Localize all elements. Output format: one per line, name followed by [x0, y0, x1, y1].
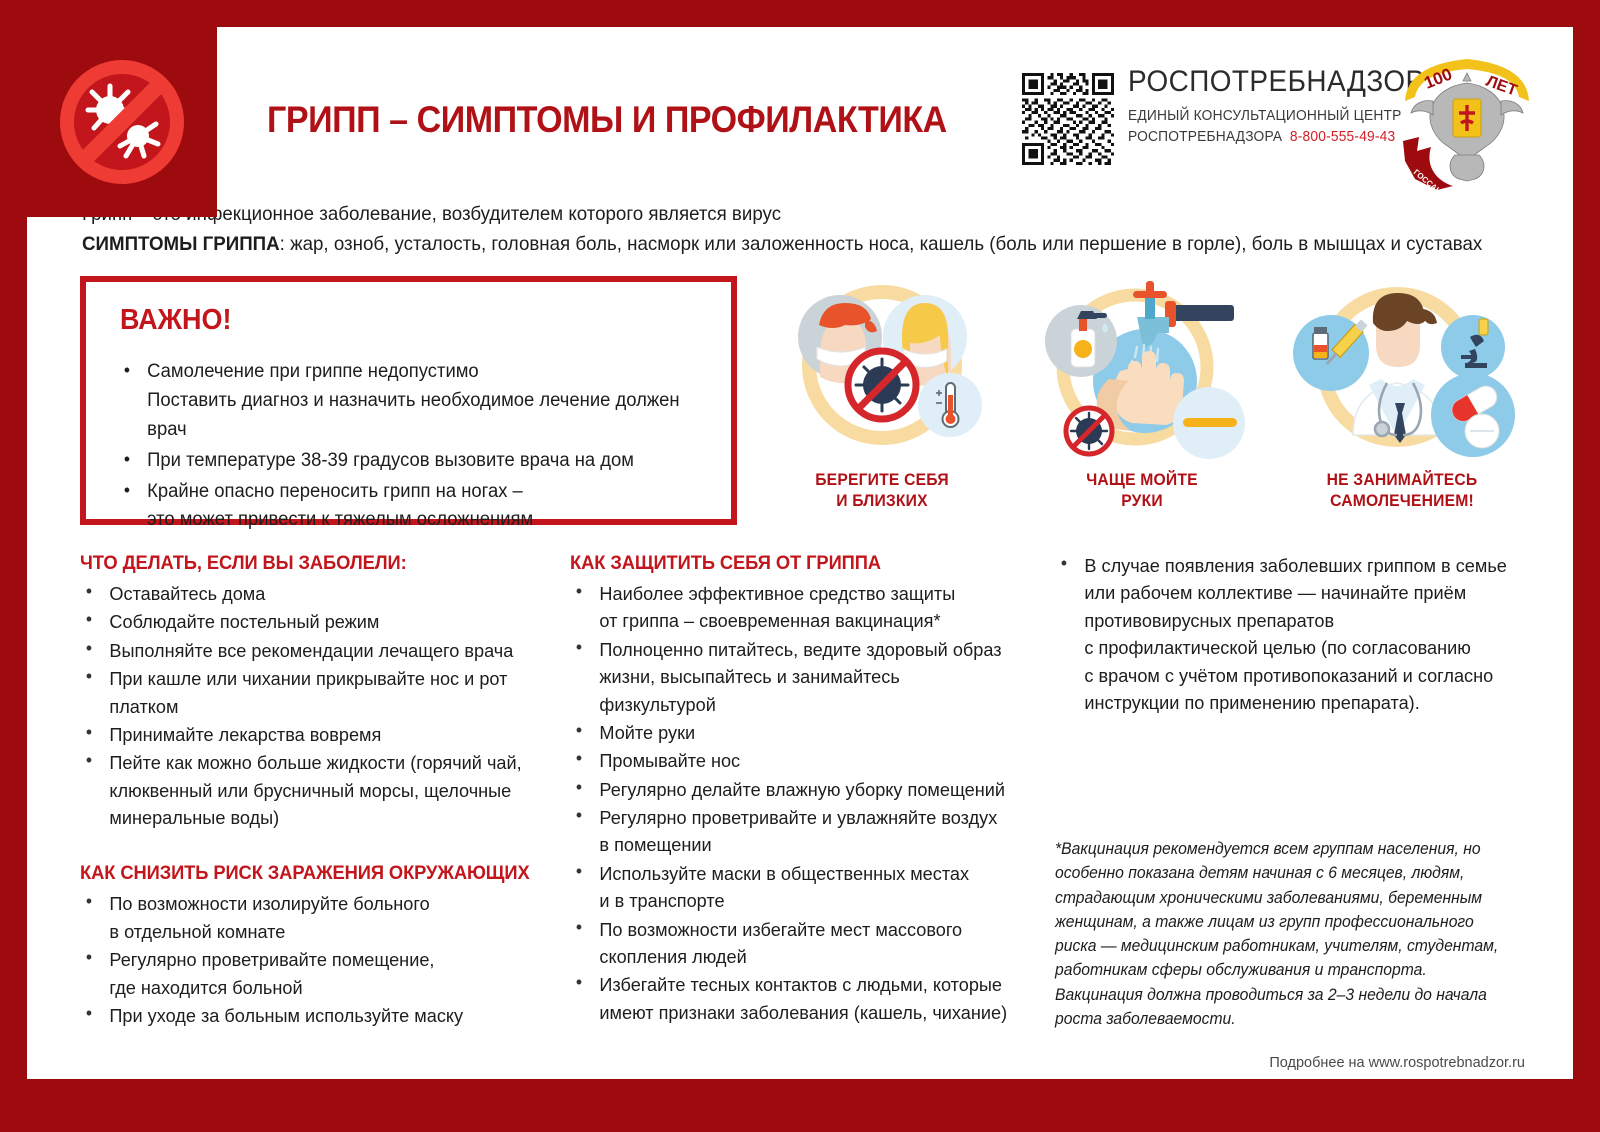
illustration-card-protect-yourself: БЕРЕГИТЕ СЕБЯ И БЛИЗКИХ: [757, 275, 1007, 513]
list-item: Оставайтесь дома: [80, 580, 541, 607]
virus-badge-block: [27, 27, 217, 217]
section-gap: [80, 832, 550, 862]
vaccination-footnote: *Вакцинация рекомендуется всем группам н…: [1055, 837, 1511, 1031]
poster-sheet: ГРИПП – СИМПТОМЫ И ПРОФИЛАКТИКА: [27, 27, 1573, 1079]
list-item: При кашле или чихании прикрывайте нос и …: [80, 665, 541, 720]
brand-subtitle-line1: ЕДИНЫЙ КОНСУЛЬТАЦИОННЫЙ ЦЕНТР: [1128, 106, 1431, 127]
art-wash-hands: [1017, 275, 1267, 470]
illustration-caption: БЕРЕГИТЕ СЕБЯ И БЛИЗКИХ: [763, 470, 1001, 513]
list-item: По возможности изолируйте больного в отд…: [80, 890, 541, 945]
qr-code-icon: [1022, 73, 1114, 165]
list-item: Регулярно проветривайте помещение, где н…: [80, 946, 541, 1001]
section-heading-what-to-do: ЧТО ДЕЛАТЬ, ЕСЛИ ВЫ ЗАБОЛЕЛИ:: [80, 552, 522, 575]
important-title: ВАЖНО!: [120, 304, 231, 337]
important-list: Самолечение при гриппе недопустимо Поста…: [120, 358, 720, 537]
list-reduce-risk: По возможности изолируйте больного в отд…: [80, 890, 550, 1029]
intro-text: Грипп – это инфекционное заболевание, во…: [82, 199, 1482, 259]
list-prophylaxis: В случае появления заболевших гриппом в …: [1055, 552, 1533, 716]
illustration-caption: ЧАЩЕ МОЙТЕ РУКИ: [1023, 470, 1261, 513]
brand-subtitle-line2: РОСПОТРЕБНАДЗОРА: [1128, 129, 1282, 145]
illustration-card-wash-hands: ЧАЩЕ МОЙТЕ РУКИ: [1017, 275, 1267, 513]
poster-root: ГРИПП – СИМПТОМЫ И ПРОФИЛАКТИКА: [0, 0, 1600, 1132]
brand-block: РОСПОТРЕБНАДЗОР ЕДИНЫЙ КОНСУЛЬТАЦИОННЫЙ …: [1022, 67, 1447, 165]
column-how-to-protect: КАК ЗАЩИТИТЬ СЕБЯ ОТ ГРИППА Наиболее эфф…: [570, 552, 1025, 1027]
brand-name: РОСПОТРЕБНАДЗОР: [1128, 67, 1425, 97]
faucet-icon: [1133, 281, 1234, 347]
content-columns: ЧТО ДЕЛАТЬ, ЕСЛИ ВЫ ЗАБОЛЕЛИ: Оставайтес…: [80, 552, 1530, 1032]
list-item: Избегайте тесных контактов с людьми, кот…: [570, 971, 1016, 1026]
list-how-to-protect: Наиболее эффективное средство защиты от …: [570, 580, 1025, 1026]
hotline-phone: 8-800-555-49-43: [1290, 129, 1395, 145]
rospotrebnadzor-emblem-icon: 100 ЛЕТ ГОССАНЭПИДСЛУЖБА: [1397, 43, 1537, 193]
list-item: Регулярно делайте влажную уборку помещен…: [570, 776, 1016, 803]
list-item: Используйте маски в общественных местах …: [570, 860, 1016, 915]
illustration-caption: НЕ ЗАНИМАЙТЕСЬ САМОЛЕЧЕНИЕМ!: [1283, 470, 1521, 513]
intro-line-2: СИМПТОМЫ ГРИППА: жар, озноб, усталость, …: [82, 229, 1482, 259]
list-item: Принимайте лекарства вовремя: [80, 721, 541, 748]
list-item: Промывайте нос: [570, 747, 1016, 774]
more-info-link[interactable]: Подробнее на www.rospotrebnadzor.ru: [1055, 1055, 1525, 1071]
illustration-row: БЕРЕГИТЕ СЕБЯ И БЛИЗКИХ: [757, 275, 1547, 530]
list-item: Полноценно питайтесь, ведите здоровый об…: [570, 636, 1016, 718]
list-what-to-do: Оставайтесь дома Соблюдайте постельный р…: [80, 580, 550, 831]
brand-subtitle-line2-row: РОСПОТРЕБНАДЗОРА8-800-555-49-43: [1128, 127, 1431, 148]
list-item: Регулярно проветривайте и увлажняйте воз…: [570, 804, 1016, 859]
important-box: ВАЖНО! Самолечение при гриппе недопустим…: [80, 276, 737, 525]
list-item: В случае появления заболевших гриппом в …: [1055, 552, 1523, 716]
brand-subtitle: ЕДИНЫЙ КОНСУЛЬТАЦИОННЫЙ ЦЕНТР РОСПОТРЕБН…: [1128, 106, 1431, 148]
art-no-self-treatment: [1277, 275, 1527, 470]
doctor-icon: [1277, 275, 1527, 470]
wash-hands-icon: [1017, 275, 1267, 470]
page-title: ГРИПП – СИМПТОМЫ И ПРОФИЛАКТИКА: [267, 99, 947, 141]
poster-header: ГРИПП – СИМПТОМЫ И ПРОФИЛАКТИКА: [217, 27, 1573, 217]
list-item: Пейте как можно больше жидкости (горячий…: [80, 749, 541, 831]
list-item: Крайне опасно переносить грипп на ногах …: [120, 478, 702, 536]
section-heading-reduce-risk: КАК СНИЗИТЬ РИСК ЗАРАЖЕНИЯ ОКРУЖАЮЩИХ: [80, 862, 522, 885]
list-item: Самолечение при гриппе недопустимо Поста…: [120, 358, 702, 445]
list-item: Наиболее эффективное средство защиты от …: [570, 580, 1016, 635]
symptoms-text: : жар, озноб, усталость, головная боль, …: [280, 233, 1483, 255]
list-item: Соблюдайте постельный режим: [80, 608, 541, 635]
section-heading-how-to-protect: КАК ЗАЩИТИТЬ СЕБЯ ОТ ГРИППА: [570, 552, 998, 575]
list-item: При уходе за больным используйте маску: [80, 1002, 541, 1029]
list-item: Выполняйте все рекомендации лечащего вра…: [80, 637, 541, 664]
list-item: По возможности избегайте мест массового …: [570, 916, 1016, 971]
no-virus-icon: [52, 52, 192, 192]
symptoms-label: СИМПТОМЫ ГРИППА: [82, 233, 280, 255]
list-item: Мойте руки: [570, 719, 1016, 746]
art-protect-yourself: [757, 275, 1007, 470]
list-item: При температуре 38-39 градусов вызовите …: [120, 447, 702, 476]
illustration-card-no-self-treatment: НЕ ЗАНИМАЙТЕСЬ САМОЛЕЧЕНИЕМ!: [1277, 275, 1527, 513]
column-what-to-do: ЧТО ДЕЛАТЬ, ЕСЛИ ВЫ ЗАБОЛЕЛИ: Оставайтес…: [80, 552, 550, 1030]
intro-line-1: Грипп – это инфекционное заболевание, во…: [82, 199, 1482, 229]
protect-yourself-icon: [757, 275, 1007, 470]
column-prophylaxis: В случае появления заболевших гриппом в …: [1055, 552, 1533, 717]
